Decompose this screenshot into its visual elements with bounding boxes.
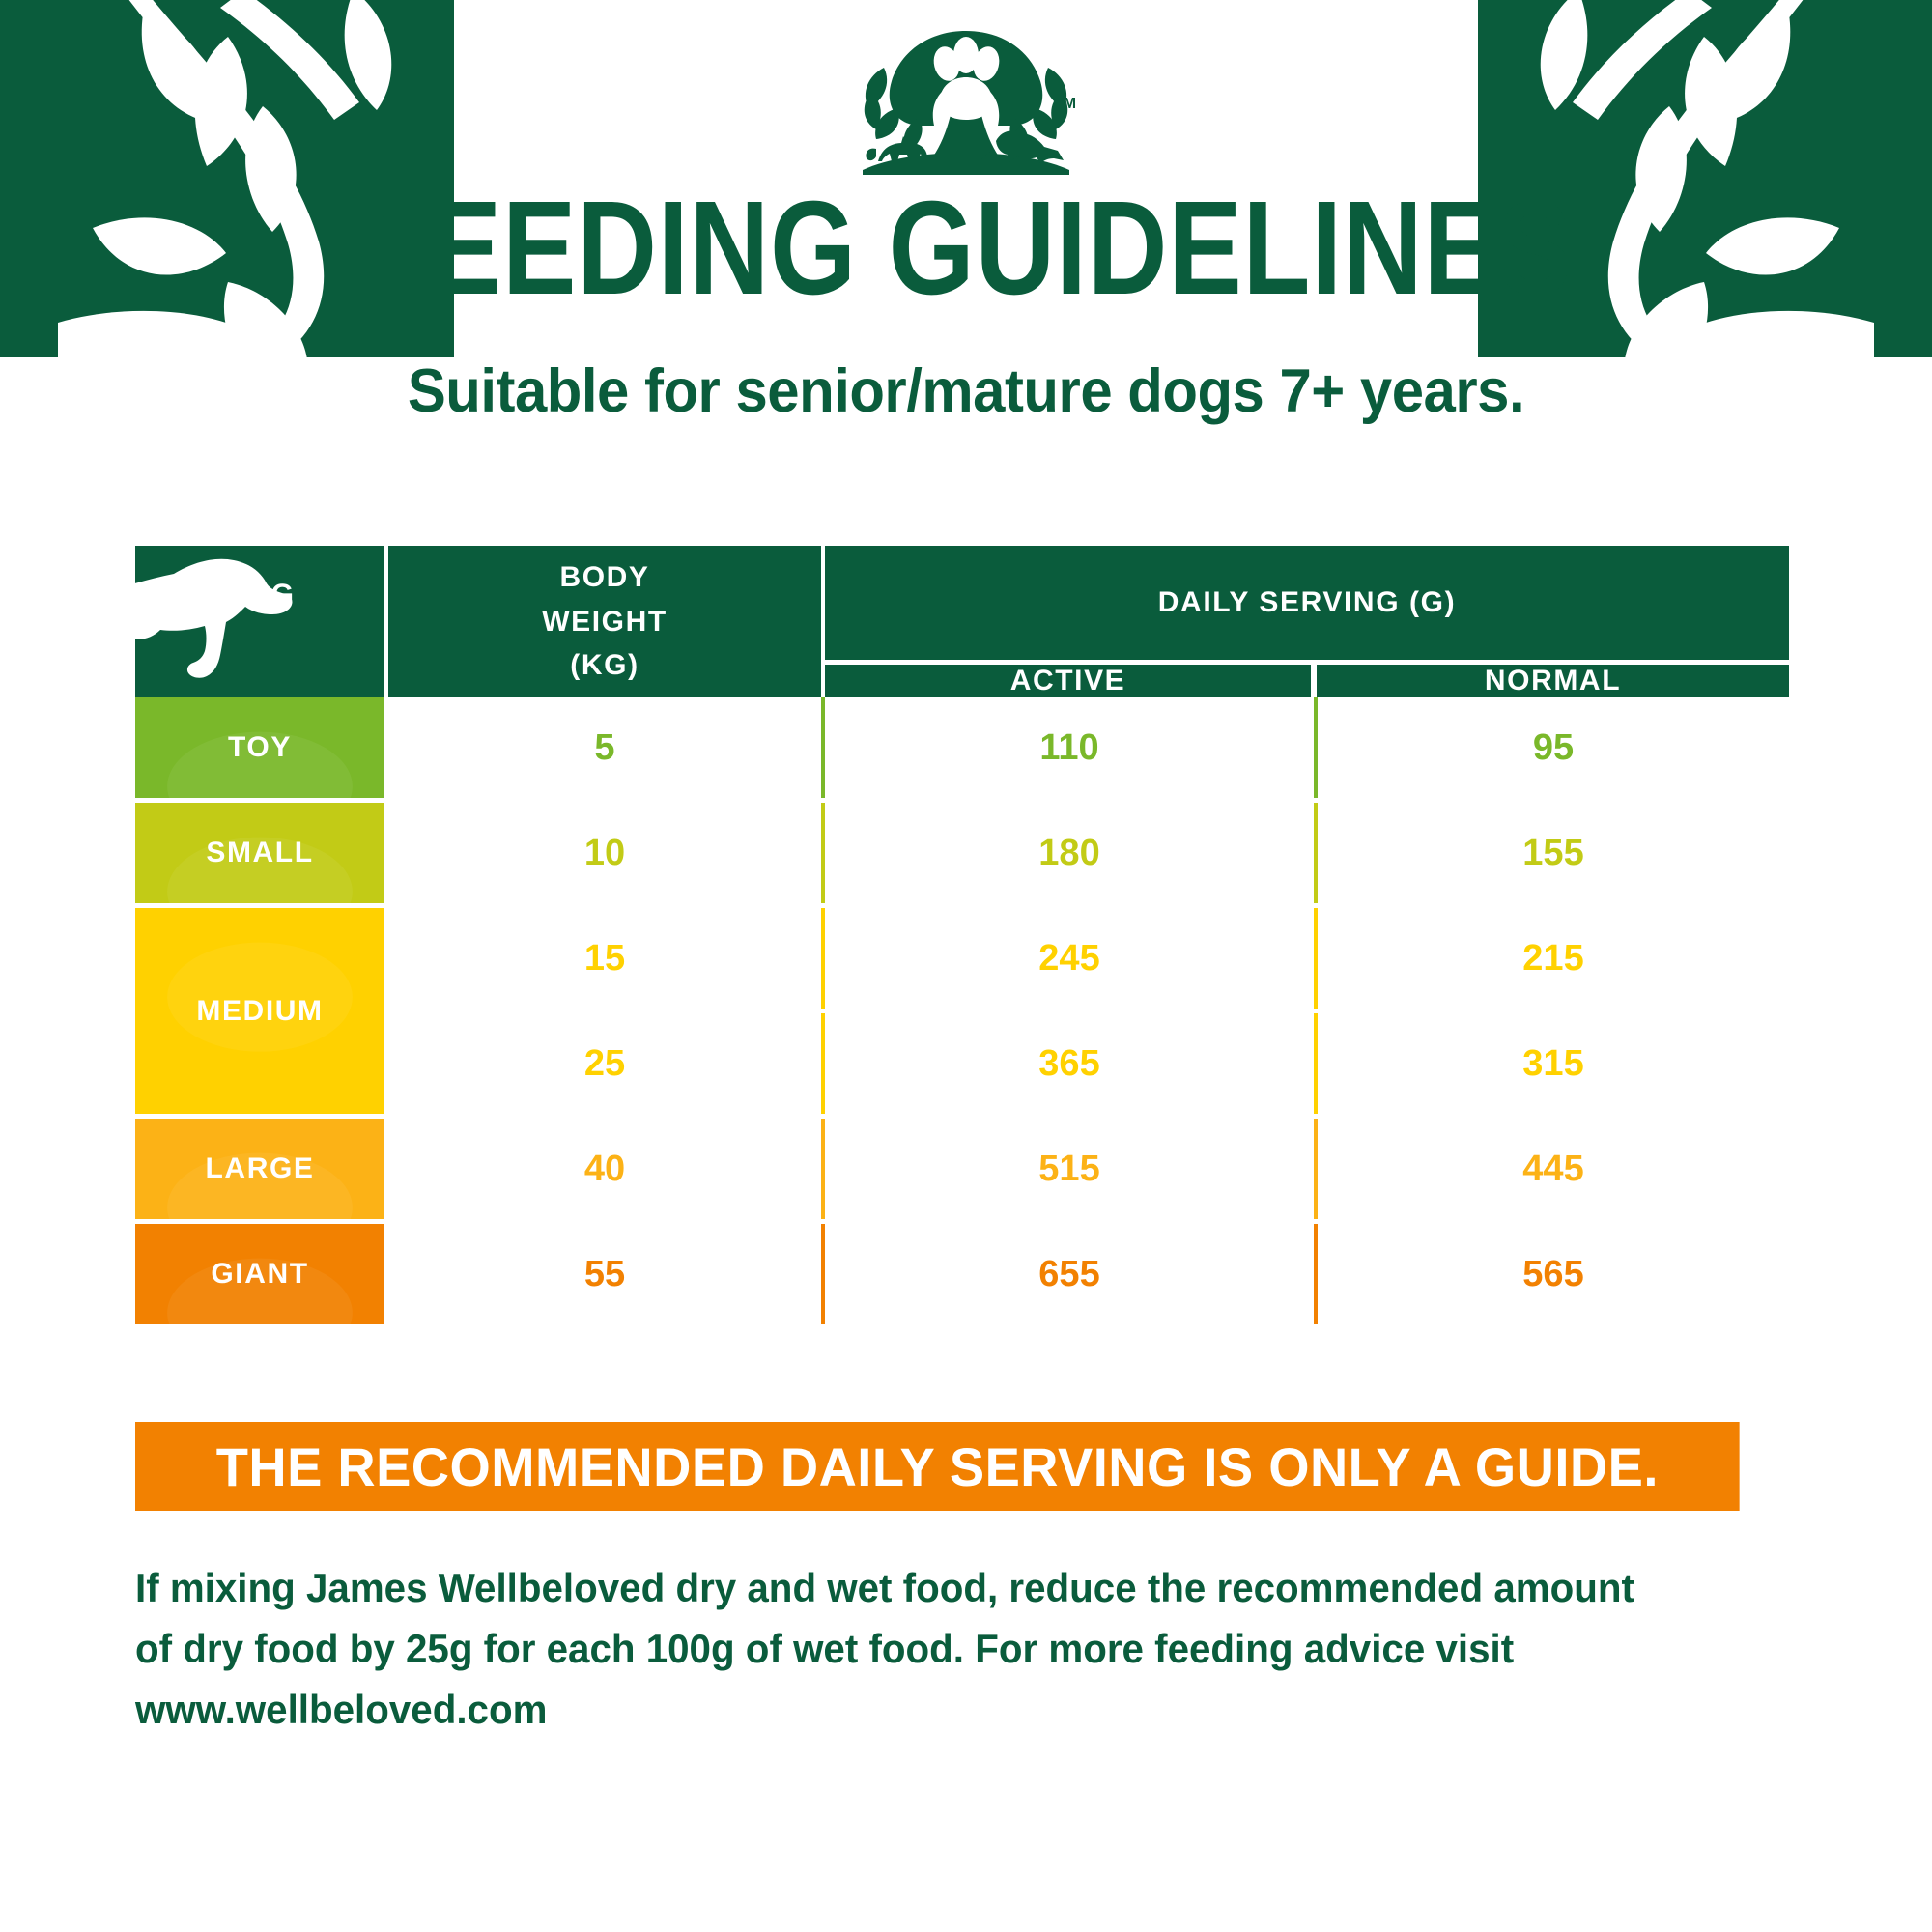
cell-normal-serving: 215 [1314,908,1789,1009]
page-title: FEEDING GUIDELINES [164,182,1768,315]
cell-body-weight: 15 [388,908,821,1009]
row-label-text: GIANT [211,1258,308,1291]
footer-line-3: www.wellbeloved.com [135,1679,1730,1740]
row-label-text: TOY [228,731,292,764]
cell-normal-serving: 445 [1314,1119,1789,1219]
table-header-body-weight: BODY WEIGHT (KG) [388,546,821,697]
cell-normal-serving: 155 [1314,803,1789,903]
footer-line-1: If mixing James Wellbeloved dry and wet … [135,1557,1730,1618]
feeding-guidelines-table: DOG BODY WEIGHT (KG) DAILY SERVING (G) A… [135,546,1789,1329]
row-label-giant: GIANT [135,1224,384,1324]
row-label-small: SMALL [135,803,384,903]
cell-body-weight: 5 [388,697,821,798]
table-header-normal: NORMAL [1317,665,1789,697]
cell-body-weight: 40 [388,1119,821,1219]
row-label-large: LARGE [135,1119,384,1219]
table-header-daily-serving: DAILY SERVING (G) [825,546,1789,660]
table-header-active: ACTIVE [825,665,1311,697]
row-label-toy: TOY [135,697,384,798]
row-label-text: MEDIUM [196,995,323,1028]
cell-normal-serving: 315 [1314,1013,1789,1114]
page-subtitle: Suitable for senior/mature dogs 7+ years… [48,359,1884,423]
footer-disclaimer: If mixing James Wellbeloved dry and wet … [135,1557,1730,1740]
trademark-symbol: TM [1054,96,1076,112]
row-label-text: LARGE [206,1152,315,1185]
cell-active-serving: 245 [821,908,1314,1009]
body-weight-line-3: (KG) [570,643,639,688]
cell-active-serving: 515 [821,1119,1314,1219]
cell-normal-serving: 95 [1314,697,1789,798]
table-header-dog: DOG [135,546,384,697]
cell-normal-serving: 565 [1314,1224,1789,1324]
dog-silhouette-icon [135,546,321,684]
cell-body-weight: 25 [388,1013,821,1114]
row-label-text: SMALL [206,837,313,869]
body-weight-line-1: BODY [559,555,649,600]
cell-active-serving: 180 [821,803,1314,903]
body-weight-line-2: WEIGHT [542,600,668,644]
row-label-medium: MEDIUM [135,908,384,1114]
cell-body-weight: 10 [388,803,821,903]
cell-active-serving: 365 [821,1013,1314,1114]
cell-active-serving: 110 [821,697,1314,798]
brand-logo: TM [855,25,1077,175]
footer-line-2: of dry food by 25g for each 100g of wet … [135,1618,1730,1679]
cell-body-weight: 55 [388,1224,821,1324]
guide-disclaimer-banner: THE RECOMMENDED DAILY SERVING IS ONLY A … [135,1422,1740,1511]
cell-active-serving: 655 [821,1224,1314,1324]
